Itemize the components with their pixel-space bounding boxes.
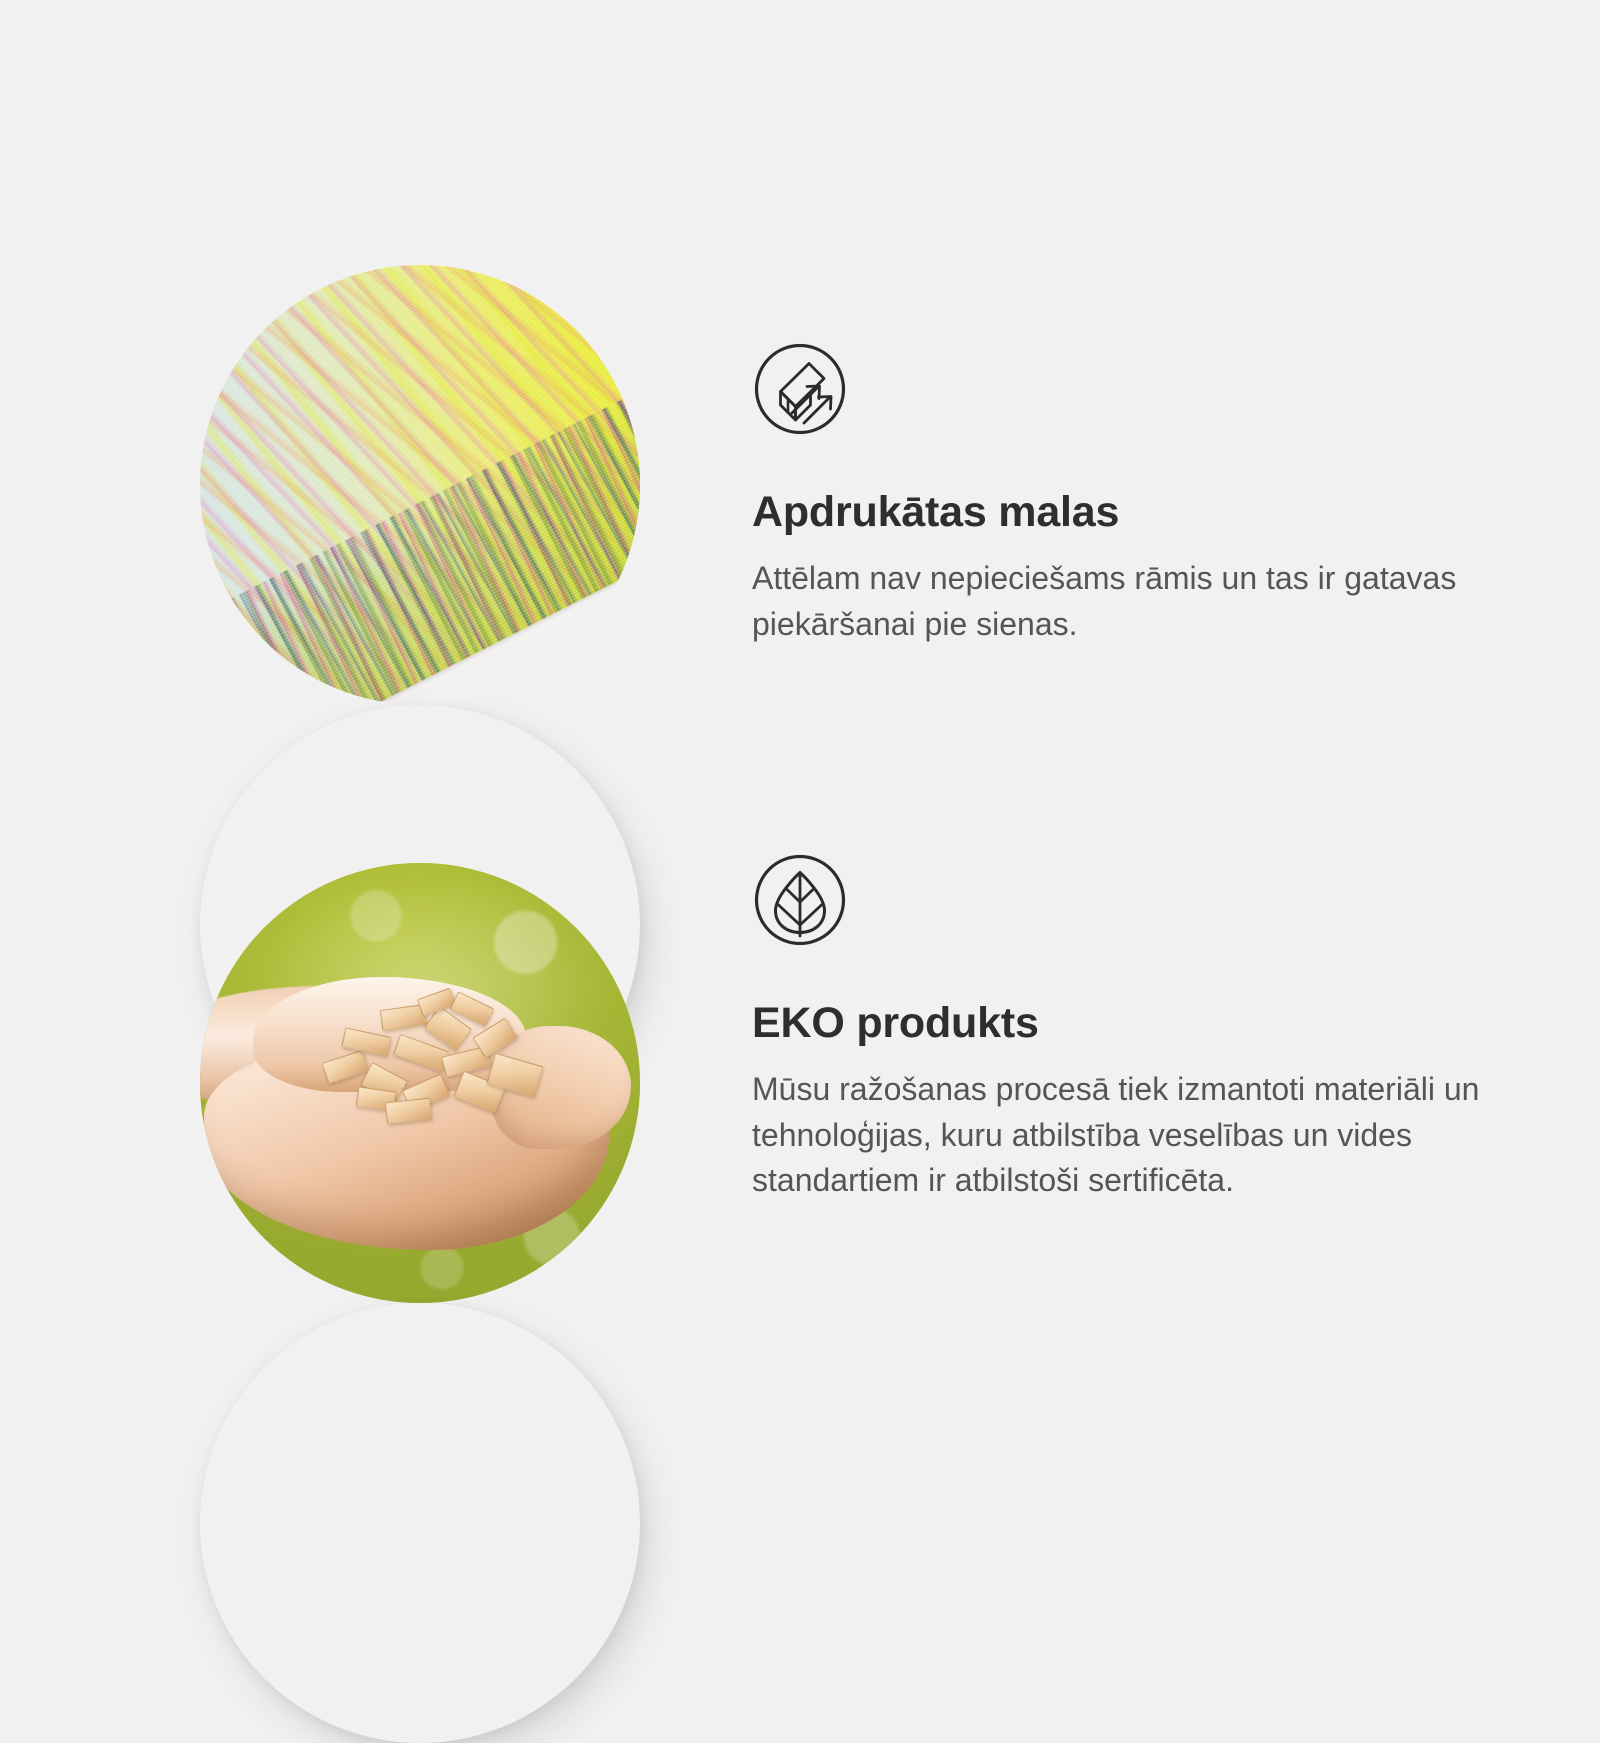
feature-description: Attēlam nav nepieciešams rāmis un tas ir… (752, 556, 1472, 647)
feature-title: EKO produkts (752, 1000, 1512, 1047)
feature-image-eco-product (200, 863, 640, 1303)
leaf-icon (752, 852, 848, 948)
feature-text-eco-product: EKO produkts Mūsu ražošanas procesā tiek… (752, 852, 1512, 1204)
feature-text-printed-edges: Apdrukātas malas Attēlam nav nepieciešam… (752, 341, 1492, 647)
eco-photo-dropshadow (200, 1303, 640, 1743)
feature-highlights-page: Apdrukātas malas Attēlam nav nepieciešam… (0, 0, 1600, 1600)
canvas-print-edge-photo (200, 265, 640, 705)
feature-title: Apdrukātas malas (752, 489, 1492, 536)
feature-description: Mūsu ražošanas procesā tiek izmantoti ma… (752, 1067, 1492, 1203)
canvas-wall-background (200, 265, 640, 705)
feature-image-printed-edges (200, 265, 640, 705)
wood-chip-pile (314, 991, 552, 1127)
wood-chip (385, 1097, 432, 1124)
printed-edges-icon (752, 341, 848, 437)
eco-scene (200, 863, 640, 1303)
wood-chip (341, 1027, 391, 1056)
wood-chips-in-hands-photo (200, 863, 640, 1303)
